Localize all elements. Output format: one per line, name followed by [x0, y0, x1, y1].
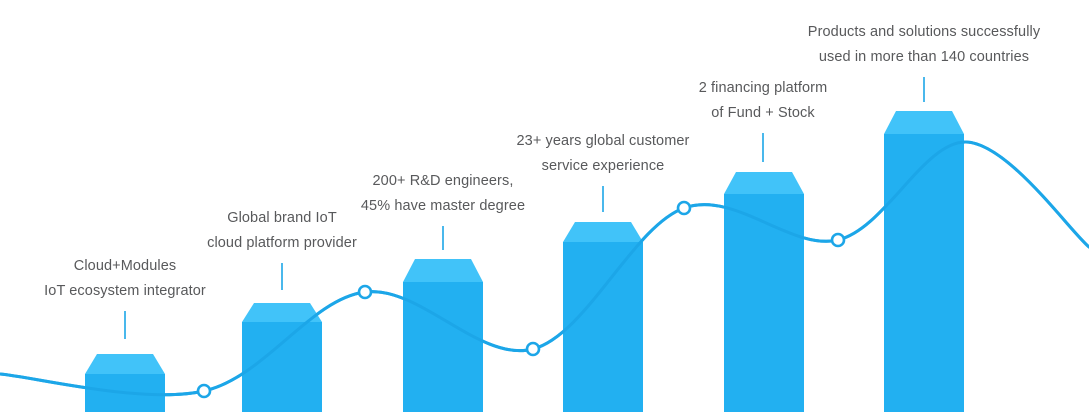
curve-marker-1	[198, 385, 210, 397]
bar-top-face-6	[884, 111, 964, 134]
bar-column-6	[884, 111, 964, 412]
bar-chart-canvas	[0, 0, 1089, 412]
bar-top-face-5	[724, 172, 804, 194]
milestones-infographic: Cloud+Modules IoT ecosystem integrator G…	[0, 0, 1089, 412]
curve-marker-3	[527, 343, 539, 355]
curve-marker-4	[678, 202, 690, 214]
bar-front-face-3	[403, 282, 483, 412]
bar-top-face-3	[403, 259, 483, 282]
bar-front-face-4	[563, 242, 643, 412]
bar-front-face-5	[724, 194, 804, 412]
bar-column-5	[724, 172, 804, 412]
bar-column-1	[85, 354, 165, 412]
label-ticks-layer	[125, 77, 924, 339]
bar-column-4	[563, 222, 643, 412]
bar-top-face-1	[85, 354, 165, 374]
bars-layer	[85, 111, 964, 412]
curve-marker-2	[359, 286, 371, 298]
curve-marker-5	[832, 234, 844, 246]
bar-front-face-6	[884, 134, 964, 412]
bar-top-face-4	[563, 222, 643, 242]
